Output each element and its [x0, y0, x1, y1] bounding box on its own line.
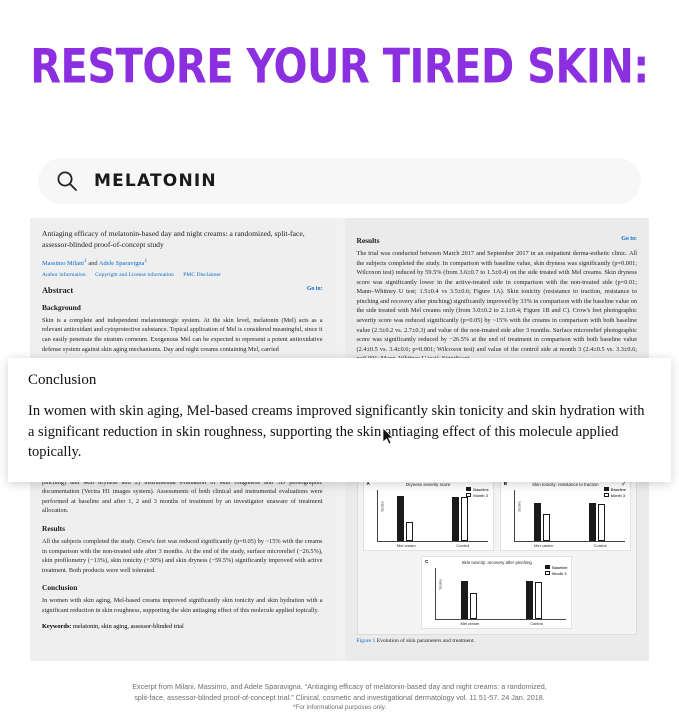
footer-line-1: Excerpt from Milani, Massimo, and Adele … [0, 681, 679, 692]
bar-baseline-control-b [589, 503, 596, 541]
chart-panel-c: C Skin tonicity: recovery after pinching… [421, 556, 572, 629]
figure-caption-text: Evolution of skin parameters and treatme… [377, 638, 475, 644]
author-link-2[interactable]: Adele Sparavigna [99, 260, 145, 267]
goto-link-abstract[interactable]: Go to: [307, 286, 323, 292]
bar-baseline-control-c [526, 581, 533, 619]
bar-baseline-mel-b [534, 503, 541, 541]
overlay-title: Conclusion [28, 372, 651, 389]
chart-panel-b: B ♂ Skin tonicity: resistance to tractio… [500, 478, 631, 551]
bar-baseline-mel-a [397, 496, 404, 541]
xtick-control-b: Control [594, 543, 607, 548]
bar-month3-control-b [598, 504, 605, 541]
keywords-value: melatonin, skin aging, assessor-blinded … [71, 623, 183, 630]
plot-area-c: Score [435, 568, 566, 620]
bar-month3-mel-b [543, 514, 550, 541]
search-icon [56, 170, 78, 192]
conclusion-text-left: In women with skin aging, Mel-based crea… [42, 596, 323, 615]
plot-area-a: Score [377, 490, 488, 542]
figure-caption: Figure 1 Evolution of skin parameters an… [357, 638, 638, 644]
figure-row-top: A Dryness severity score Baseline Month … [363, 478, 632, 551]
ylabel-a: Score [379, 501, 384, 511]
bar-group-control-b [589, 490, 605, 541]
background-heading: Background [42, 303, 323, 312]
footer-line-3: *For informational purposes only. [0, 703, 679, 713]
bar-month3-mel-c [470, 593, 477, 619]
plot-area-b: Score [514, 490, 625, 542]
ylabel-c: Score [438, 579, 443, 589]
goto-label: Go to: [307, 286, 323, 292]
overlay-text: In women with skin aging, Mel-based crea… [28, 401, 651, 463]
meta-pmc-disclaimer[interactable]: PMC Disclaimer [183, 272, 221, 278]
panel-label-c: C [425, 559, 428, 564]
goto-label-2: Go to: [621, 236, 637, 242]
paper-title: Antiaging efficacy of melatonin-based da… [42, 228, 323, 251]
author-separator: and [87, 260, 99, 267]
xtick-mel-c: Mel cream [461, 621, 480, 626]
search-input[interactable]: MELATONIN [94, 171, 217, 191]
footer-attribution: Excerpt from Milani, Massimo, and Adele … [0, 681, 679, 713]
xlabels-b: Mel cream Control [514, 543, 627, 548]
xlabels-a: Mel cream Control [377, 543, 490, 548]
xtick-mel-b: Mel cream [534, 543, 553, 548]
keywords: Keywords: melatonin, skin aging, assesso… [42, 623, 323, 630]
ylabel-b: Score [516, 501, 521, 511]
figure-1: A Dryness severity score Baseline Month … [357, 472, 638, 635]
xtick-mel-a: Mel cream [397, 543, 416, 548]
xlabels-c: Mel cream Control [435, 621, 568, 626]
goto-link-results[interactable]: Go to: [621, 236, 637, 242]
chart-panel-a: A Dryness severity score Baseline Month … [363, 478, 494, 551]
footer-line-2: split-face, assessor-blinded proof-of-co… [0, 692, 679, 703]
bar-group-mel-c [461, 568, 477, 619]
keywords-label: Keywords: [42, 623, 71, 630]
bar-group-mel-b [534, 490, 550, 541]
results-heading-right: Go to: Results [357, 236, 638, 245]
abstract-heading: Go to: Abstract [42, 286, 323, 295]
xtick-control-c: Control [530, 621, 543, 626]
abstract-label: Abstract [42, 286, 73, 295]
paper-authors: Massimo Milani1 and Adele Sparavigna1 [42, 258, 323, 267]
conclusion-heading-left: Conclusion [42, 583, 323, 592]
bar-group-mel-a [397, 490, 413, 541]
author-sup-2: 1 [144, 258, 147, 264]
meta-author-information[interactable]: Author information [42, 272, 86, 278]
xtick-control-a: Control [456, 543, 469, 548]
background-text: Skin is a complete and independent melat… [42, 316, 323, 354]
paper-meta-links: Author information Copyright and License… [42, 272, 323, 278]
results-text-right: The trial was conducted between March 20… [357, 249, 638, 364]
bar-group-control-a [452, 490, 468, 541]
figure-caption-link[interactable]: Figure 1 [357, 638, 376, 644]
bar-group-control-c [526, 568, 542, 619]
results-label-right: Results [357, 236, 380, 245]
meta-copyright[interactable]: Copyright and License information [95, 272, 174, 278]
results-heading-left: Results [42, 524, 323, 533]
search-bar[interactable]: MELATONIN [38, 158, 641, 204]
figure-row-bottom: C Skin tonicity: recovery after pinching… [363, 556, 632, 629]
page-headline: RESTORE YOUR TIRED SKIN: [0, 40, 679, 94]
bar-baseline-control-a [452, 497, 459, 541]
bar-baseline-mel-c [461, 581, 468, 619]
bar-month3-control-a [461, 497, 468, 541]
conclusion-overlay-card: Conclusion In women with skin aging, Mel… [8, 358, 671, 482]
results-text-left: All the subjects completed the study. Cr… [42, 537, 323, 575]
bar-month3-control-c [535, 582, 542, 619]
bar-month3-mel-a [406, 522, 413, 541]
author-link-1[interactable]: Massimo Milani [42, 260, 84, 267]
